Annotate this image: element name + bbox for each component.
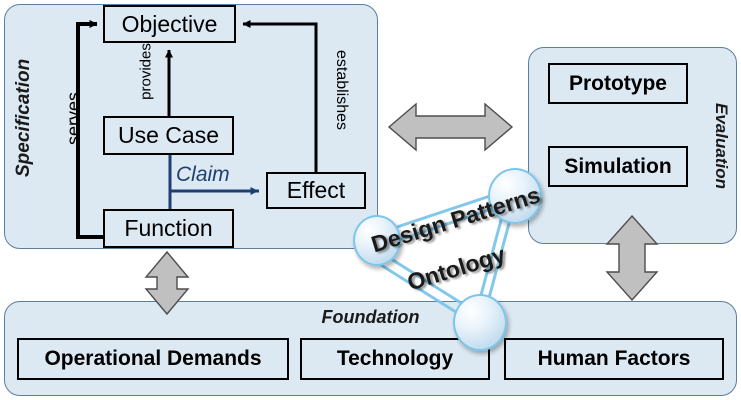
box-effect[interactable]: Effect — [266, 172, 366, 209]
evaluation-label: Evaluation — [711, 86, 731, 206]
relation-label-establishes: establishes — [332, 40, 350, 140]
box-simulation[interactable]: Simulation — [548, 146, 688, 187]
relation-label-provides: provides — [138, 36, 155, 108]
network-node-bottom[interactable] — [453, 294, 507, 351]
box-technology[interactable]: Technology — [300, 338, 490, 380]
box-objective[interactable]: Objective — [103, 5, 236, 43]
box-function[interactable]: Function — [103, 209, 234, 248]
relation-label-serves: serves — [64, 81, 85, 157]
relation-label-claim: Claim — [176, 163, 230, 187]
box-human-factors[interactable]: Human Factors — [504, 338, 724, 380]
box-use-case[interactable]: Use Case — [103, 116, 234, 155]
box-prototype[interactable]: Prototype — [548, 63, 688, 104]
foundation-label: Foundation — [0, 307, 741, 328]
box-operational-demands[interactable]: Operational Demands — [17, 338, 289, 380]
diagram-canvas: Objective Use Case Function Effect serve… — [0, 0, 741, 400]
specification-label: Specification — [13, 81, 35, 177]
